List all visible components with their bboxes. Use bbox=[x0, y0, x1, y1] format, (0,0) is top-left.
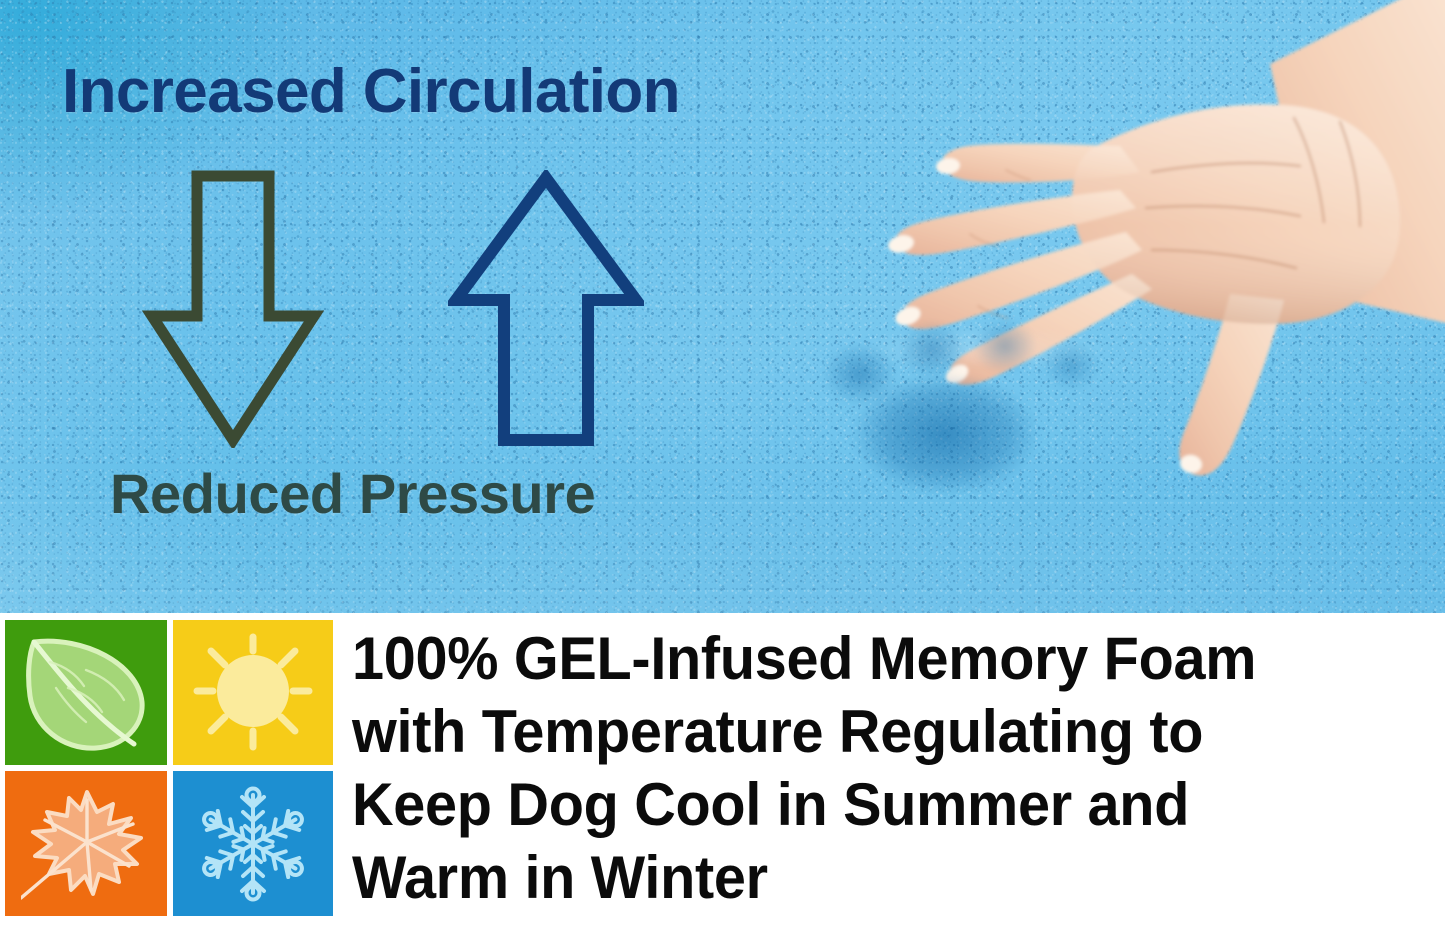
reduced-pressure-label: Reduced Pressure bbox=[110, 461, 595, 526]
spring-leaf-tile bbox=[5, 620, 167, 765]
circulation-up-arrow-icon bbox=[448, 170, 644, 448]
summer-sun-tile bbox=[173, 620, 333, 765]
headline-line-4: Warm in Winter bbox=[352, 841, 1401, 914]
spring-leaf-icon bbox=[20, 630, 152, 756]
gel-foam-photo: Increased Circulation Reduced Pressure bbox=[0, 0, 1445, 613]
season-icon-grid bbox=[5, 620, 333, 916]
increased-circulation-label: Increased Circulation bbox=[62, 56, 680, 127]
winter-snowflake-icon bbox=[193, 785, 313, 903]
summer-sun-icon bbox=[189, 631, 317, 755]
autumn-maple-leaf-tile bbox=[5, 771, 167, 916]
promo-banner: Increased Circulation Reduced Pressure bbox=[0, 0, 1445, 927]
headline-line-2: with Temperature Regulating to bbox=[352, 695, 1401, 768]
headline-line-3: Keep Dog Cool in Summer and bbox=[352, 768, 1401, 841]
autumn-maple-leaf-icon bbox=[21, 782, 151, 906]
feature-strip: 100% GEL-Infused Memory Foam with Temper… bbox=[0, 613, 1445, 927]
product-headline: 100% GEL-Infused Memory Foam with Temper… bbox=[352, 622, 1401, 914]
pressure-down-arrow-icon bbox=[142, 168, 324, 448]
winter-snowflake-tile bbox=[173, 771, 333, 916]
headline-line-1: 100% GEL-Infused Memory Foam bbox=[352, 622, 1401, 695]
